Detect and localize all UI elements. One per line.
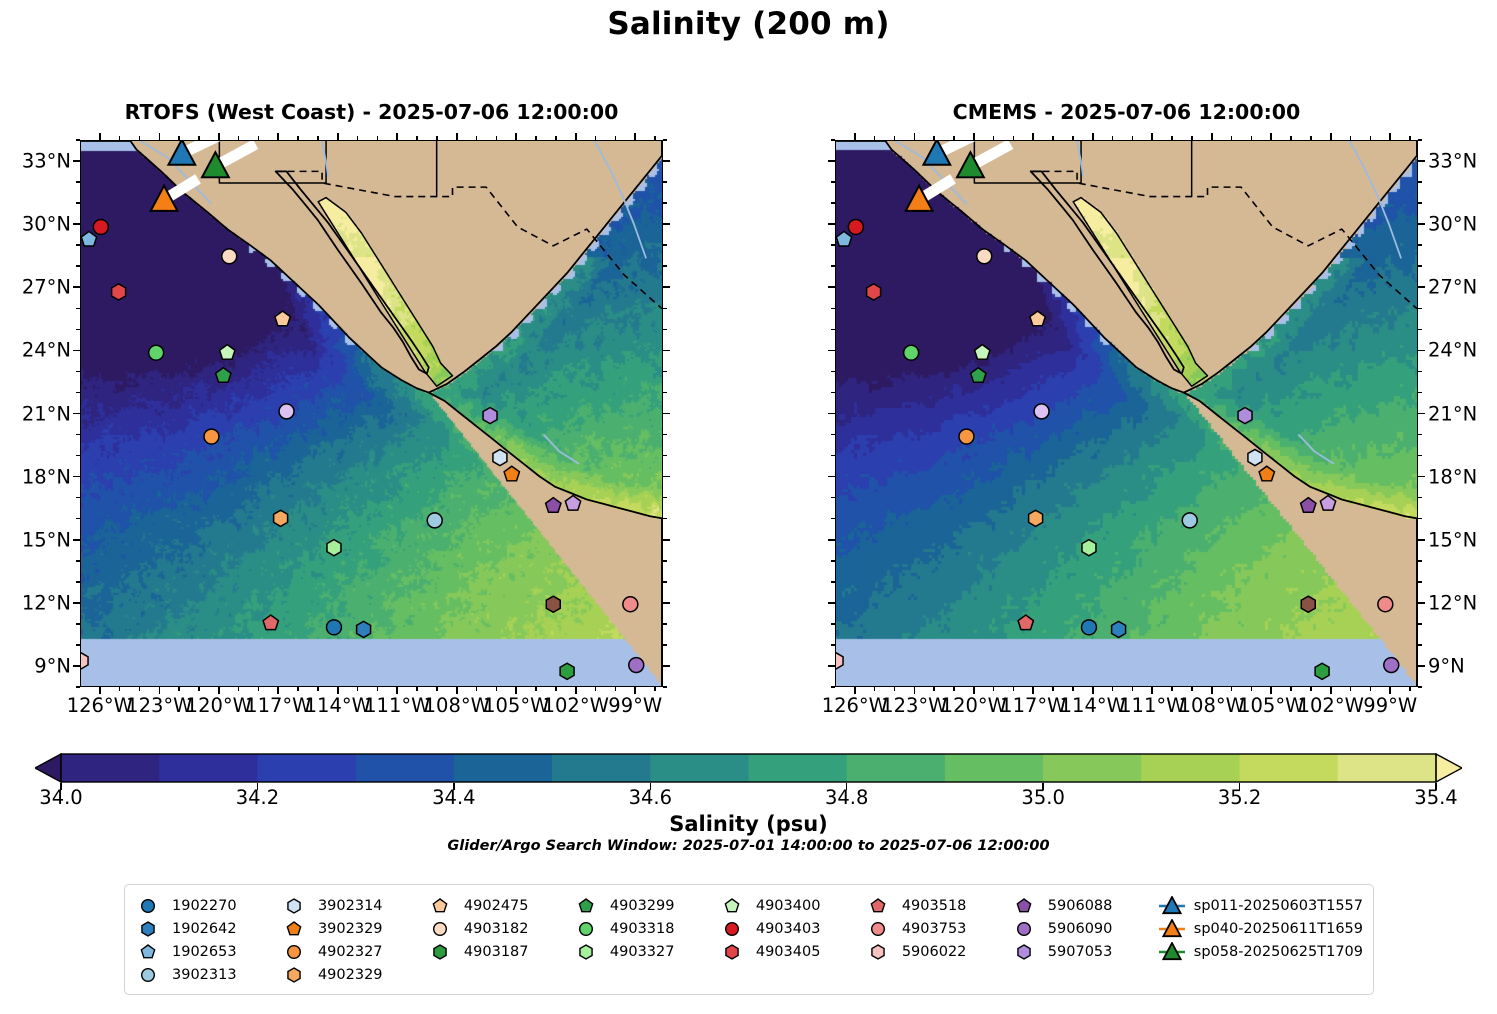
figure-title: Salinity (200 m) [0, 6, 1497, 42]
ytick-major-right [663, 476, 670, 478]
legend-entry-float[interactable]: 3902314 [283, 894, 429, 917]
xtick-minor-top [436, 136, 438, 140]
ytick-major-right [663, 286, 670, 288]
colorbar-tick-label: 34.0 [39, 786, 82, 809]
xtick-minor-top [119, 136, 121, 140]
legend-entry-float[interactable]: 4903187 [429, 940, 575, 963]
ytick-label-right: 21°N [1428, 402, 1477, 425]
xtick-label: 105°W [483, 694, 549, 717]
legend-entry-float[interactable]: 5906088 [1013, 894, 1159, 917]
xtick-major-top [973, 133, 975, 140]
float-marker-icon [1013, 896, 1039, 916]
xtick-minor [555, 687, 557, 691]
xtick-major-top [456, 133, 458, 140]
argo-float-marker [1378, 597, 1393, 612]
ytick-minor-left [76, 623, 80, 625]
xtick-major [1032, 687, 1034, 694]
xtick-minor-top [1409, 136, 1411, 140]
xtick-major [1330, 687, 1332, 694]
ytick-label-right: 15°N [1428, 528, 1477, 551]
legend-entry-float[interactable]: 1902642 [137, 917, 283, 940]
xtick-minor-top [1052, 136, 1054, 140]
argo-float-marker [1112, 621, 1126, 637]
xtick-minor-top [1370, 136, 1372, 140]
xtick-minor [178, 687, 180, 691]
colorbar [35, 753, 1462, 783]
xtick-major-top [1151, 133, 1153, 140]
xtick-major-top [99, 133, 101, 140]
colorbar-tick-label: 34.2 [236, 786, 279, 809]
ytick-minor-right [663, 308, 667, 310]
ytick-minor-left [831, 265, 835, 267]
map-panel-cmems[interactable] [835, 140, 1418, 687]
argo-float-marker [263, 615, 278, 630]
xtick-label: 108°W [1179, 694, 1245, 717]
argo-float-marker [1315, 663, 1329, 679]
ytick-minor-left [831, 371, 835, 373]
ytick-minor-right [1418, 560, 1422, 562]
xtick-minor [496, 687, 498, 691]
markers-overlay-cmems [836, 141, 1417, 686]
argo-float-marker [427, 513, 442, 528]
argo-float-marker [1248, 449, 1262, 465]
ytick-minor-left [76, 392, 80, 394]
xtick-minor-top [894, 136, 896, 140]
xtick-minor-top [178, 136, 180, 140]
legend-label: 3902313 [172, 967, 237, 983]
float-marker-icon [721, 896, 747, 916]
ytick-minor-right [663, 560, 667, 562]
xtick-minor [357, 687, 359, 691]
ytick-major-right [1418, 350, 1425, 352]
argo-float-marker [1384, 658, 1399, 673]
ytick-label-left: 18°N [22, 465, 71, 488]
colorbar-tick-label: 34.6 [629, 786, 672, 809]
glider-marker-icon [1159, 896, 1185, 916]
argo-float-marker [836, 653, 843, 669]
ytick-minor-right [663, 623, 667, 625]
ytick-minor-right [663, 497, 667, 499]
ytick-minor-right [1418, 686, 1422, 688]
xtick-minor-top [258, 136, 260, 140]
legend-entry-float[interactable]: 1902653 [137, 940, 283, 963]
xtick-minor [476, 687, 478, 691]
argo-float-marker [629, 658, 644, 673]
legend-entry-float[interactable]: 4903405 [721, 940, 867, 963]
legend-entry-float[interactable]: 4903182 [429, 917, 575, 940]
float-marker-icon [575, 942, 601, 962]
ytick-minor-left [76, 181, 80, 183]
xtick-major-top [634, 133, 636, 140]
float-marker-icon [721, 942, 747, 962]
xtick-minor [1013, 687, 1015, 691]
xtick-minor-top [874, 136, 876, 140]
legend-entry-glider[interactable]: sp058-20250625T1709 [1159, 940, 1363, 963]
ytick-major-left [828, 350, 835, 352]
xtick-minor-top [953, 136, 955, 140]
argo-float-marker [1301, 596, 1315, 612]
ytick-minor-left [76, 434, 80, 436]
ytick-minor-right [663, 434, 667, 436]
xtick-major-top [1211, 133, 1213, 140]
ytick-minor-left [76, 265, 80, 267]
map-panel-rtofs[interactable] [80, 140, 663, 687]
xtick-label: 123°W [126, 694, 192, 717]
xtick-major [218, 687, 220, 694]
ytick-minor-left [831, 581, 835, 583]
xtick-label: 111°W [1119, 694, 1185, 717]
xtick-label: 126°W [67, 694, 133, 717]
ytick-minor-left [76, 308, 80, 310]
search-window-text: Glider/Argo Search Window: 2025-07-01 14… [0, 838, 1497, 854]
ytick-minor-right [663, 518, 667, 520]
xtick-minor [317, 687, 319, 691]
xtick-minor-top [654, 136, 656, 140]
ytick-major-left [73, 160, 80, 162]
xtick-minor [1132, 687, 1134, 691]
xtick-minor [1072, 687, 1074, 691]
colorbar-tick-label: 35.4 [1414, 786, 1457, 809]
colorbar-label: Salinity (psu) [0, 812, 1497, 836]
argo-float-marker [1259, 466, 1274, 481]
legend-entry-float[interactable]: 4903753 [867, 917, 1013, 940]
ytick-label-right: 30°N [1428, 213, 1477, 236]
xtick-major-top [1092, 133, 1094, 140]
xtick-major-top [1270, 133, 1272, 140]
xtick-label: 111°W [364, 694, 430, 717]
legend-label: sp011-20250603T1557 [1194, 898, 1363, 914]
legend-entry-glider[interactable]: sp011-20250603T1557 [1159, 894, 1363, 917]
ytick-minor-right [663, 139, 667, 141]
legend-entry-float[interactable]: 5906022 [867, 940, 1013, 963]
xtick-minor [953, 687, 955, 691]
xtick-minor [1290, 687, 1292, 691]
xtick-minor-top [297, 136, 299, 140]
ytick-minor-left [76, 455, 80, 457]
legend-label: 4903182 [464, 921, 529, 937]
ytick-minor-left [831, 518, 835, 520]
xtick-minor [654, 687, 656, 691]
xtick-major [575, 687, 577, 694]
ytick-label-right: 24°N [1428, 339, 1477, 362]
legend-entry-float[interactable]: 4902475 [429, 894, 575, 917]
xtick-label: 105°W [1238, 694, 1304, 717]
ytick-minor-right [1418, 623, 1422, 625]
argo-float-marker [867, 284, 881, 300]
legend-label: 4903299 [610, 898, 675, 914]
xtick-minor-top [198, 136, 200, 140]
glider-marker-icon [1159, 942, 1185, 962]
ytick-minor-left [831, 623, 835, 625]
argo-float-marker [327, 540, 341, 556]
ytick-minor-right [1418, 265, 1422, 267]
ytick-label-left: 24°N [22, 339, 71, 362]
ytick-label-left: 9°N [34, 654, 71, 677]
ytick-minor-left [76, 371, 80, 373]
float-marker-icon [283, 965, 309, 985]
xtick-label: 123°W [881, 694, 947, 717]
xtick-minor-top [1171, 136, 1173, 140]
ytick-label-left: 15°N [22, 528, 71, 551]
ytick-minor-right [1418, 455, 1422, 457]
ytick-minor-right [1418, 181, 1422, 183]
xtick-minor-top [357, 136, 359, 140]
xtick-minor [198, 687, 200, 691]
xtick-major-top [515, 133, 517, 140]
float-marker-icon [575, 919, 601, 939]
colorbar-tick-label: 34.4 [432, 786, 475, 809]
legend-label: 4903318 [610, 921, 675, 937]
ytick-minor-right [1418, 497, 1422, 499]
legend-entry-float[interactable]: 4903400 [721, 894, 867, 917]
argo-float-marker [977, 249, 992, 264]
ytick-minor-left [831, 139, 835, 141]
ytick-label-right: 18°N [1428, 465, 1477, 488]
xtick-minor [297, 687, 299, 691]
argo-float-marker [1238, 408, 1252, 424]
argo-float-marker [274, 510, 288, 526]
ytick-major-right [1418, 476, 1425, 478]
argo-float-marker [112, 284, 126, 300]
float-marker-icon [867, 919, 893, 939]
panel-title-rtofs: RTOFS (West Coast) - 2025-07-06 12:00:00 [80, 100, 663, 124]
argo-float-marker [975, 345, 990, 360]
xtick-minor [595, 687, 597, 691]
float-marker-icon [429, 896, 455, 916]
legend-entry-glider[interactable]: sp040-20250611T1659 [1159, 917, 1363, 940]
xtick-label: 114°W [1060, 694, 1126, 717]
xtick-major-top [1032, 133, 1034, 140]
xtick-major [396, 687, 398, 694]
ytick-minor-left [76, 329, 80, 331]
ytick-label-left: 27°N [22, 276, 71, 299]
argo-float-marker [81, 231, 96, 246]
legend-entry-float[interactable]: 3902313 [137, 963, 283, 986]
float-marker-icon [867, 942, 893, 962]
legend-entry-float[interactable]: 4903327 [575, 940, 721, 963]
argo-float-marker [93, 219, 108, 234]
argo-float-marker [216, 368, 231, 383]
ytick-minor-left [76, 686, 80, 688]
ytick-minor-right [1418, 308, 1422, 310]
ytick-major-right [1418, 602, 1425, 604]
ytick-minor-left [831, 434, 835, 436]
float-marker-icon [721, 919, 747, 939]
xtick-minor-top [416, 136, 418, 140]
xtick-major-top [218, 133, 220, 140]
ytick-major-left [73, 286, 80, 288]
ytick-minor-right [663, 455, 667, 457]
ytick-minor-right [1418, 518, 1422, 520]
colorbar-tick-label: 35.0 [1021, 786, 1064, 809]
ytick-minor-left [831, 202, 835, 204]
ytick-major-left [828, 413, 835, 415]
xtick-label: 117°W [245, 694, 311, 717]
ytick-minor-left [76, 644, 80, 646]
legend-entry-float[interactable]: 4902329 [283, 963, 429, 986]
xtick-major [515, 687, 517, 694]
ytick-minor-right [1418, 392, 1422, 394]
ytick-major-right [663, 350, 670, 352]
argo-float-marker [546, 498, 561, 513]
ytick-major-left [828, 286, 835, 288]
xtick-minor-top [933, 136, 935, 140]
markers-overlay-rtofs [81, 141, 662, 686]
glider-marker-icon [1159, 919, 1185, 939]
xtick-label: 99°W [608, 694, 662, 717]
xtick-minor-top [1072, 136, 1074, 140]
ytick-minor-left [831, 497, 835, 499]
argo-float-marker [1081, 620, 1096, 635]
ytick-label-left: 21°N [22, 402, 71, 425]
xtick-minor-top [1231, 136, 1233, 140]
xtick-major [1092, 687, 1094, 694]
legend-entry-float[interactable]: 4903299 [575, 894, 721, 917]
legend-label: 4903518 [902, 898, 967, 914]
ytick-minor-left [76, 497, 80, 499]
xtick-minor [1171, 687, 1173, 691]
ytick-label-right: 12°N [1428, 591, 1477, 614]
legend-entry-float[interactable]: 4903403 [721, 917, 867, 940]
argo-float-marker [1029, 510, 1043, 526]
xtick-minor [535, 687, 537, 691]
ytick-minor-right [663, 644, 667, 646]
colorbar-tick-label: 35.2 [1218, 786, 1261, 809]
xtick-minor-top [1191, 136, 1193, 140]
xtick-minor [1350, 687, 1352, 691]
argo-float-marker [279, 404, 294, 419]
ytick-label-left: 12°N [22, 591, 71, 614]
xtick-major [854, 687, 856, 694]
xtick-minor [1191, 687, 1193, 691]
legend-label: 3902314 [318, 898, 383, 914]
xtick-major [1389, 687, 1391, 694]
ytick-minor-right [1418, 202, 1422, 204]
float-marker-icon [283, 919, 309, 939]
ytick-minor-left [831, 308, 835, 310]
legend-entry-float[interactable]: 5907053 [1013, 940, 1159, 963]
argo-float-marker [483, 408, 497, 424]
legend-label: 5907053 [1048, 944, 1113, 960]
argo-float-marker [1034, 404, 1049, 419]
ytick-major-right [1418, 286, 1425, 288]
xtick-minor [416, 687, 418, 691]
ytick-minor-left [76, 518, 80, 520]
xtick-minor-top [595, 136, 597, 140]
legend-label: 4902475 [464, 898, 529, 914]
legend-entry-float[interactable]: 4903518 [867, 894, 1013, 917]
xtick-minor-top [238, 136, 240, 140]
xtick-major [1211, 687, 1213, 694]
legend-label: sp058-20250625T1709 [1194, 944, 1363, 960]
xtick-minor [1052, 687, 1054, 691]
argo-float-marker [836, 231, 851, 246]
xtick-minor-top [317, 136, 319, 140]
xtick-major [1270, 687, 1272, 694]
xtick-minor-top [1013, 136, 1015, 140]
xtick-label: 102°W [543, 694, 609, 717]
xtick-minor-top [377, 136, 379, 140]
legend-label: 4902327 [318, 944, 383, 960]
float-marker-icon [137, 965, 163, 985]
legend-label: 1902642 [172, 921, 237, 937]
xtick-minor-top [476, 136, 478, 140]
ytick-minor-right [663, 181, 667, 183]
xtick-minor [993, 687, 995, 691]
legend-label: sp040-20250611T1659 [1194, 921, 1363, 937]
legend-entry-float[interactable]: 3902329 [283, 917, 429, 940]
xtick-major [634, 687, 636, 694]
xtick-major [337, 687, 339, 694]
ytick-minor-left [76, 202, 80, 204]
legend-label: 4903400 [756, 898, 821, 914]
ytick-label-right: 9°N [1428, 654, 1465, 677]
legend-grid: 1902270390231449024754903299490340049035… [137, 894, 1363, 986]
legend-label: 4903405 [756, 944, 821, 960]
argo-float-marker [1018, 615, 1033, 630]
ytick-major-left [828, 665, 835, 667]
legend-box: 1902270390231449024754903299490340049035… [124, 884, 1374, 995]
legend-label: 5906088 [1048, 898, 1113, 914]
xtick-label: 99°W [1363, 694, 1417, 717]
observation-markers [836, 141, 1417, 686]
ytick-major-right [663, 160, 670, 162]
ytick-minor-right [1418, 434, 1422, 436]
xtick-major-top [914, 133, 916, 140]
xtick-label: 114°W [305, 694, 371, 717]
argo-float-marker [220, 345, 235, 360]
xtick-label: 120°W [186, 694, 252, 717]
argo-float-marker [565, 496, 580, 511]
ytick-major-right [663, 413, 670, 415]
ytick-major-left [73, 350, 80, 352]
legend-entry-float[interactable]: 5906090 [1013, 917, 1159, 940]
float-marker-icon [1013, 942, 1039, 962]
ytick-major-left [73, 476, 80, 478]
ytick-minor-right [663, 265, 667, 267]
legend-entry-float[interactable]: 4902327 [283, 940, 429, 963]
ytick-major-left [73, 223, 80, 225]
argo-float-marker [560, 663, 574, 679]
legend-entry-float[interactable]: 4903318 [575, 917, 721, 940]
xtick-minor [894, 687, 896, 691]
xtick-label: 108°W [424, 694, 490, 717]
argo-float-marker [149, 345, 164, 360]
xtick-minor [874, 687, 876, 691]
ytick-major-left [73, 413, 80, 415]
legend-entry-float[interactable]: 1902270 [137, 894, 283, 917]
ytick-major-left [828, 539, 835, 541]
argo-float-marker [81, 653, 88, 669]
legend-label: 4902329 [318, 967, 383, 983]
ytick-minor-right [1418, 329, 1422, 331]
xtick-minor-top [1132, 136, 1134, 140]
ytick-minor-left [831, 455, 835, 457]
ytick-major-right [1418, 539, 1425, 541]
argo-float-marker [204, 429, 219, 444]
argo-float-marker [848, 219, 863, 234]
legend-label: 5906090 [1048, 921, 1113, 937]
ytick-major-right [663, 223, 670, 225]
argo-float-marker [493, 449, 507, 465]
xtick-major-top [396, 133, 398, 140]
xtick-minor [1310, 687, 1312, 691]
xtick-minor [1231, 687, 1233, 691]
legend-label: 4903187 [464, 944, 529, 960]
xtick-minor-top [615, 136, 617, 140]
ytick-minor-left [76, 581, 80, 583]
panel-title-cmems: CMEMS - 2025-07-06 12:00:00 [835, 100, 1418, 124]
